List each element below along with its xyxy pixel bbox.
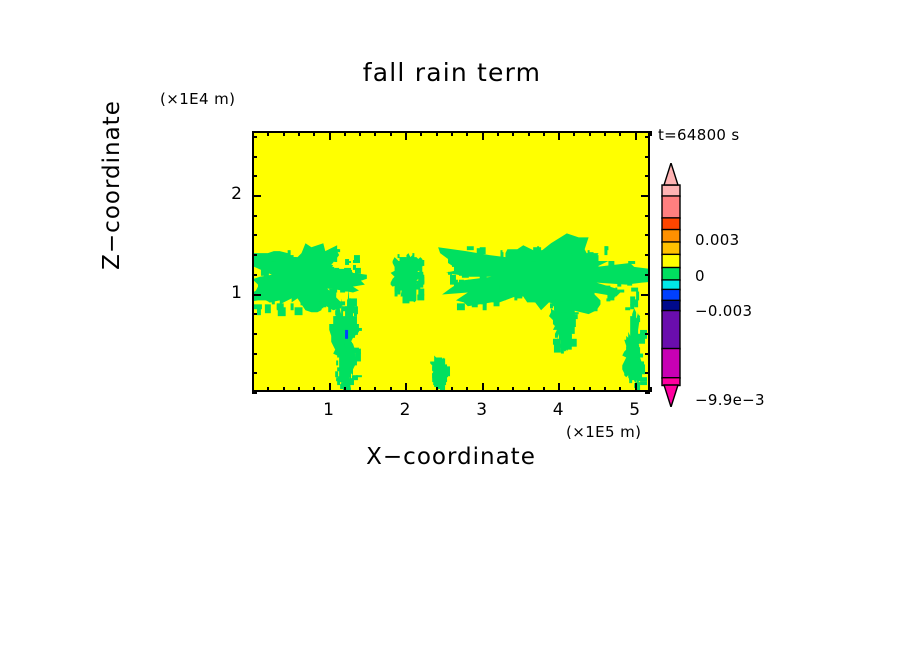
x-major-tick xyxy=(482,383,484,392)
x-minor-tick xyxy=(390,387,392,392)
contour-speckle xyxy=(354,306,357,316)
contour-speckle xyxy=(500,250,502,257)
contour-speckle xyxy=(538,269,540,276)
contour-speckle xyxy=(402,285,409,294)
x-minor-tick-top xyxy=(604,131,606,136)
x-major-tick-top xyxy=(405,131,407,140)
contour-speckle xyxy=(327,299,332,303)
contour-speckle xyxy=(318,304,323,308)
contour-speckle xyxy=(528,277,530,287)
y-minor-tick xyxy=(252,156,257,158)
contour-core-negative xyxy=(345,330,348,339)
contour-speckle xyxy=(638,364,645,374)
contour-speckle xyxy=(332,273,336,278)
x-minor-tick xyxy=(528,387,530,392)
colorbar xyxy=(659,163,683,407)
y-major-tick-right xyxy=(641,195,650,197)
contour-speckle xyxy=(270,269,274,274)
x-minor-tick xyxy=(619,387,621,392)
contour-speckle xyxy=(588,287,595,297)
contour-speckle xyxy=(302,291,310,296)
contour-speckle xyxy=(272,262,275,269)
contour-speckle xyxy=(627,339,634,346)
contour-speckle xyxy=(275,261,279,270)
x-major-tick-top xyxy=(558,131,560,140)
x-minor-tick xyxy=(589,387,591,392)
contour-speckle xyxy=(311,260,317,270)
contour-speckle xyxy=(472,263,475,265)
x-minor-tick-top xyxy=(466,131,468,136)
x-major-tick xyxy=(329,383,331,392)
contour-speckle xyxy=(557,324,560,331)
contour-speckle xyxy=(345,259,349,265)
y-minor-tick xyxy=(252,215,257,217)
colorbar-band xyxy=(662,311,680,349)
contour-speckle xyxy=(561,320,563,325)
y-minor-tick xyxy=(252,333,257,335)
contour-speckle xyxy=(487,280,490,283)
contour-speckle xyxy=(468,280,473,288)
contour-speckle xyxy=(542,297,547,303)
contour-speckle xyxy=(569,247,576,253)
contour-speckle xyxy=(537,246,539,249)
contour-speckle xyxy=(336,379,342,381)
contour-speckle xyxy=(283,297,287,300)
contour-speckle xyxy=(411,263,417,272)
contour-speckle xyxy=(348,314,352,317)
contour-speckle xyxy=(337,249,340,252)
contour-speckle xyxy=(467,246,474,250)
colorbar-band xyxy=(662,230,680,243)
contour-speckle xyxy=(602,292,608,294)
contour-speckle xyxy=(344,351,346,356)
contour-speckle xyxy=(457,303,465,310)
contour-speckle xyxy=(524,295,528,298)
y-minor-tick xyxy=(252,136,257,138)
contour-speckle xyxy=(503,268,507,272)
contour-speckle xyxy=(572,326,574,330)
contour-speckle xyxy=(534,299,539,302)
contour-speckle xyxy=(631,288,638,292)
contour-speckle xyxy=(639,377,647,381)
contour-speckle xyxy=(319,282,322,284)
x-tick-label: 3 xyxy=(467,400,497,420)
contour-speckle xyxy=(635,349,639,356)
x-minor-tick-top xyxy=(619,131,621,136)
x-axis-unit-label: (×1E5 m) xyxy=(566,423,641,441)
x-minor-tick-top xyxy=(573,131,575,136)
y-tick-label: 1 xyxy=(212,283,242,303)
y-minor-tick-right xyxy=(645,215,650,217)
contour-speckle xyxy=(420,260,424,266)
contour-speckle xyxy=(625,307,630,310)
y-minor-tick xyxy=(252,254,257,256)
colorbar-band xyxy=(662,196,680,218)
contour-speckle xyxy=(319,292,322,297)
contour-speckle xyxy=(480,275,487,284)
colorbar-tick-label: −0.003 xyxy=(695,302,752,320)
x-minor-tick xyxy=(466,387,468,392)
contour-speckle xyxy=(336,342,344,346)
colorbar-band xyxy=(662,300,680,311)
contour-speckle xyxy=(418,276,421,284)
contour-speckle xyxy=(442,374,448,377)
y-minor-tick-right xyxy=(645,353,650,355)
x-minor-tick-top xyxy=(650,131,652,136)
contour-speckle xyxy=(345,342,352,348)
contour-speckle xyxy=(318,272,323,277)
contour-speckle xyxy=(288,250,291,258)
contour-speckle xyxy=(553,257,559,259)
contour-speckle xyxy=(634,334,639,344)
y-minor-tick-right xyxy=(645,274,650,276)
contour-speckle xyxy=(494,301,500,306)
contour-speckle xyxy=(272,299,275,304)
contour-speckle xyxy=(407,294,414,296)
contour-speckle xyxy=(433,365,440,369)
contour-speckle xyxy=(275,290,277,299)
contour-speckle xyxy=(563,321,567,324)
contour-speckle xyxy=(325,256,332,258)
contour-speckle xyxy=(356,375,362,377)
contour-speckle xyxy=(490,278,493,284)
contour-speckle xyxy=(629,378,632,383)
contour-speckle xyxy=(462,271,469,278)
y-axis-title: Z−coordinate xyxy=(99,70,125,300)
colorbar-band xyxy=(662,267,680,280)
y-minor-tick xyxy=(252,234,257,236)
contour-speckle xyxy=(291,268,294,275)
contour-speckle xyxy=(295,307,303,315)
contour-speckle xyxy=(632,373,637,376)
contour-speckle xyxy=(265,278,269,287)
contour-speckle xyxy=(541,254,544,257)
contour-speckle xyxy=(305,253,310,263)
x-minor-tick-top xyxy=(298,131,300,136)
contour-speckle xyxy=(272,257,276,262)
contour-speckle xyxy=(580,299,587,307)
x-tick-label: 1 xyxy=(314,400,344,420)
x-minor-tick-top xyxy=(436,131,438,136)
x-minor-tick xyxy=(374,387,376,392)
contour-speckle xyxy=(633,343,637,349)
y-minor-tick xyxy=(252,392,257,394)
y-minor-tick-right xyxy=(645,175,650,177)
contour-speckle xyxy=(314,287,320,290)
contour-speckle xyxy=(594,297,597,300)
contour-speckle xyxy=(450,275,456,285)
y-minor-tick-right xyxy=(645,136,650,138)
contour-speckle xyxy=(459,280,464,289)
contour-speckle xyxy=(406,273,409,281)
contour-speckle xyxy=(275,279,281,285)
contour-speckle xyxy=(415,273,419,276)
contour-speckle xyxy=(435,369,438,375)
contour-speckle xyxy=(591,303,598,311)
contour-speckle xyxy=(294,257,297,264)
contour-speckle xyxy=(483,301,487,310)
contour-speckle xyxy=(567,324,571,333)
contour-speckle xyxy=(616,290,624,293)
contour-speckle xyxy=(571,341,575,345)
contour-speckle xyxy=(413,284,420,290)
contour-speckle xyxy=(605,274,608,278)
contour-speckle xyxy=(636,382,640,384)
x-minor-tick xyxy=(298,387,300,392)
x-tick-label: 5 xyxy=(620,400,650,420)
contour-speckle xyxy=(342,306,347,311)
z-axis-unit-label: (×1E4 m) xyxy=(160,90,235,108)
contour-speckle xyxy=(397,268,402,276)
y-major-tick-right xyxy=(641,294,650,296)
contour-speckle xyxy=(410,277,415,280)
contour-speckle xyxy=(630,296,635,305)
contour-speckle xyxy=(553,339,560,345)
contour-speckle xyxy=(395,293,398,297)
contour-speckle xyxy=(265,289,272,292)
contour-speckle xyxy=(628,261,635,264)
contour-speckle xyxy=(353,260,360,263)
x-minor-tick xyxy=(267,387,269,392)
contour-speckle xyxy=(604,246,607,255)
x-minor-tick xyxy=(650,387,652,392)
contour-speckle xyxy=(346,357,351,366)
contour-speckle xyxy=(606,298,610,301)
contour-speckle xyxy=(629,355,634,363)
x-minor-tick-top xyxy=(344,131,346,136)
colorbar-tick-label: 0 xyxy=(695,267,705,285)
contour-field xyxy=(254,133,648,390)
contour-speckle xyxy=(604,286,610,291)
contour-speckle xyxy=(400,282,403,288)
x-major-tick xyxy=(635,383,637,392)
figure-root: fall rain term (×1E4 m) 1234512 X−coordi… xyxy=(0,0,904,654)
contour-speckle xyxy=(495,282,500,291)
contour-speckle xyxy=(453,258,460,264)
y-minor-tick xyxy=(252,353,257,355)
contour-speckle xyxy=(565,300,572,303)
x-minor-tick xyxy=(512,387,514,392)
contour-speckle xyxy=(323,293,329,298)
x-minor-tick-top xyxy=(313,131,315,136)
x-major-tick xyxy=(558,383,560,392)
contour-speckle xyxy=(261,266,266,276)
y-minor-tick-right xyxy=(645,234,650,236)
colorbar-band xyxy=(662,218,680,230)
y-major-tick xyxy=(252,294,261,296)
contour-speckle xyxy=(565,343,572,350)
contour-speckle xyxy=(335,371,338,377)
contour-speckle xyxy=(572,312,579,314)
contour-speckle xyxy=(576,270,584,280)
x-minor-tick xyxy=(573,387,575,392)
contour-speckle xyxy=(554,344,561,353)
contour-speckle xyxy=(328,304,331,312)
colorbar-bands xyxy=(659,163,683,407)
contour-speckle xyxy=(334,334,337,340)
y-tick-label: 2 xyxy=(212,184,242,204)
y-minor-tick xyxy=(252,175,257,177)
contour-speckle xyxy=(565,273,567,281)
contour-speckle xyxy=(626,347,630,356)
y-minor-tick xyxy=(252,372,257,374)
contour-speckle xyxy=(400,257,407,266)
contour-speckle xyxy=(265,304,271,313)
x-minor-tick-top xyxy=(512,131,514,136)
colorbar-band xyxy=(662,254,680,268)
colorbar-band xyxy=(662,242,680,255)
y-minor-tick-right xyxy=(645,313,650,315)
x-minor-tick xyxy=(451,387,453,392)
contour-speckle xyxy=(592,263,599,273)
contour-speckle xyxy=(294,288,301,292)
contour-speckle xyxy=(335,310,338,315)
contour-speckle xyxy=(561,345,566,348)
contour-speckle xyxy=(353,265,356,270)
x-minor-tick xyxy=(604,387,606,392)
contour-speckle xyxy=(335,316,340,324)
contour-speckle xyxy=(478,279,480,285)
contour-speckle xyxy=(344,268,351,271)
contour-speckle xyxy=(289,279,296,287)
x-tick-label: 2 xyxy=(390,400,420,420)
contour-speckle xyxy=(530,257,536,261)
contour-speckle xyxy=(346,275,349,283)
contour-speckle xyxy=(558,301,563,308)
y-minor-tick-right xyxy=(645,156,650,158)
colorbar-band xyxy=(662,289,680,300)
contour-speckle xyxy=(477,266,479,273)
contour-speckle xyxy=(291,303,294,310)
contour-speckle xyxy=(609,278,612,280)
contour-speckle xyxy=(336,360,338,365)
y-minor-tick-right xyxy=(645,392,650,394)
x-minor-tick-top xyxy=(359,131,361,136)
contour-speckle xyxy=(549,249,555,256)
contour-speckle xyxy=(341,369,348,379)
time-annotation: t=64800 s xyxy=(658,126,739,144)
y-major-tick xyxy=(252,195,261,197)
x-minor-tick-top xyxy=(420,131,422,136)
contour-speckle xyxy=(338,350,343,354)
contour-speckle xyxy=(528,293,535,299)
x-minor-tick-top xyxy=(497,131,499,136)
x-minor-tick xyxy=(497,387,499,392)
contour-speckle xyxy=(300,275,305,281)
contour-speckle xyxy=(319,301,325,304)
contour-speckle xyxy=(356,353,361,362)
contour-speckle xyxy=(603,268,607,272)
contour-speckle xyxy=(608,261,614,267)
contour-speckle xyxy=(636,292,639,301)
contour-speckle xyxy=(472,303,478,307)
contour-speckle xyxy=(627,282,632,286)
x-minor-tick-top xyxy=(390,131,392,136)
x-minor-tick-top xyxy=(451,131,453,136)
contour-speckle xyxy=(611,293,614,297)
contour-speckle xyxy=(582,290,589,295)
contour-speckle xyxy=(348,309,355,313)
contour-speckle xyxy=(547,289,552,293)
contour-speckle xyxy=(581,246,584,251)
contour-speckle xyxy=(440,379,445,384)
x-minor-tick-top xyxy=(543,131,545,136)
x-major-tick-top xyxy=(482,131,484,140)
contour-speckle xyxy=(293,293,298,297)
x-major-tick xyxy=(405,383,407,392)
contour-speckle xyxy=(435,358,441,362)
contour-speckle xyxy=(617,277,621,287)
contour-speckle xyxy=(545,273,549,279)
contour-speckle xyxy=(329,286,333,289)
contour-speckle xyxy=(350,275,354,280)
contour-speckle xyxy=(398,254,400,258)
contour-speckle xyxy=(257,307,261,315)
x-minor-tick-top xyxy=(267,131,269,136)
contour-speckle xyxy=(572,299,576,304)
x-minor-tick xyxy=(436,387,438,392)
colorbar-tick-label: −9.9e−3 xyxy=(695,391,765,409)
contour-speckle xyxy=(454,284,458,288)
contour-speckle xyxy=(334,256,337,262)
contour-speckle xyxy=(321,265,326,269)
contour-speckle xyxy=(573,254,578,259)
contour-speckle xyxy=(519,276,521,282)
contour-speckle xyxy=(255,296,261,298)
contour-speckle xyxy=(500,285,507,290)
x-major-tick-top xyxy=(329,131,331,140)
x-minor-tick-top xyxy=(374,131,376,136)
contour-speckle xyxy=(640,381,647,385)
contour-speckle xyxy=(418,289,424,296)
contour-speckle xyxy=(277,304,283,310)
colorbar-band xyxy=(662,349,680,379)
contour-speckle xyxy=(266,294,269,300)
contour-speckle xyxy=(318,253,323,256)
colorbar-band xyxy=(662,280,680,290)
contour-speckle xyxy=(297,271,299,277)
x-minor-tick-top xyxy=(528,131,530,136)
x-axis-title: X−coordinate xyxy=(252,444,650,470)
page-title: fall rain term xyxy=(0,58,904,87)
x-minor-tick xyxy=(313,387,315,392)
contour-speckle xyxy=(480,247,486,254)
x-minor-tick xyxy=(543,387,545,392)
contour-speckle xyxy=(550,305,553,308)
colorbar-arrow-bottom xyxy=(664,385,678,407)
contour-speckle xyxy=(499,298,506,300)
contour-speckle xyxy=(266,262,272,267)
x-minor-tick-top xyxy=(589,131,591,136)
contour-speckle xyxy=(585,275,593,280)
contour-speckle xyxy=(333,292,336,302)
y-minor-tick xyxy=(252,313,257,315)
contour-speckle xyxy=(540,266,546,273)
contour-speckle xyxy=(533,247,541,255)
contour-speckle xyxy=(633,367,639,373)
contour-speckle xyxy=(487,268,493,271)
contour-speckle xyxy=(348,317,353,319)
contour-speckle xyxy=(588,250,590,255)
contour-speckle xyxy=(562,333,568,340)
plot-area xyxy=(252,131,650,392)
contour-speckle xyxy=(347,353,354,356)
contour-speckle xyxy=(448,272,452,275)
y-minor-tick-right xyxy=(645,333,650,335)
colorbar-arrow-top xyxy=(664,163,678,185)
contour-speckle xyxy=(455,251,457,257)
contour-speckle xyxy=(514,292,517,298)
